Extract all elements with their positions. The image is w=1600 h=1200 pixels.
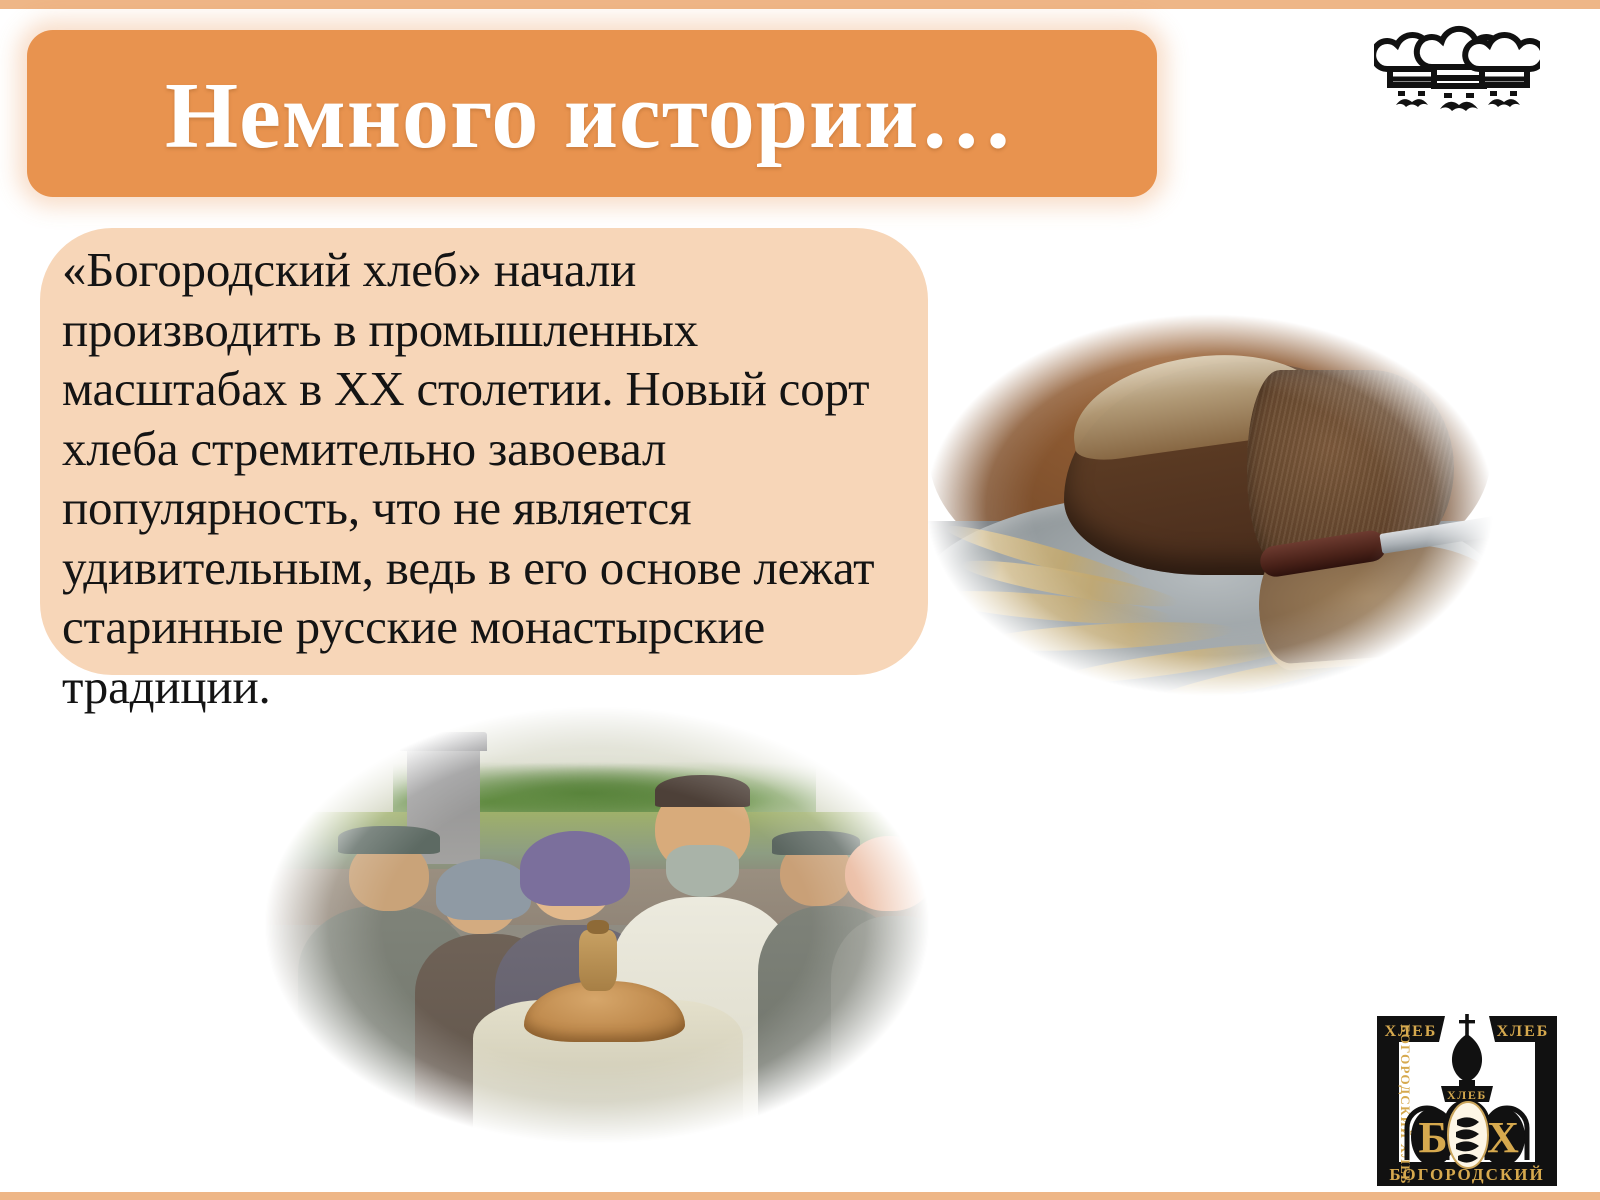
svg-text:ХЛЕБ: ХЛЕБ — [1385, 1023, 1438, 1040]
peasants-with-bread-painting — [232, 690, 962, 1160]
svg-text:ХЛЕБ: ХЛЕБ — [1497, 1023, 1550, 1040]
svg-text:Б: Б — [1418, 1113, 1447, 1162]
svg-text:Х: Х — [1487, 1113, 1519, 1162]
three-chef-hats-icon — [1374, 25, 1540, 123]
body-paragraph: «Богородский хлеб» начали производить в … — [62, 240, 902, 716]
rye-bread-loaf-photo — [905, 300, 1515, 710]
bogorodsky-hleb-logo: БОГОРОДСКИЙ ХЛЕБ БОГОРОДСКИЙ ХЛЕБ БОГОРО… — [1371, 1002, 1563, 1192]
svg-text:БОГОРОДСКИЙ ХЛЕБ: БОГОРОДСКИЙ ХЛЕБ — [1398, 1024, 1413, 1185]
slide: Немного истории… — [0, 0, 1600, 1200]
top-accent-strip — [0, 0, 1600, 9]
page-title: Немного истории… — [165, 66, 1065, 166]
bottom-accent-strip — [0, 1192, 1600, 1200]
